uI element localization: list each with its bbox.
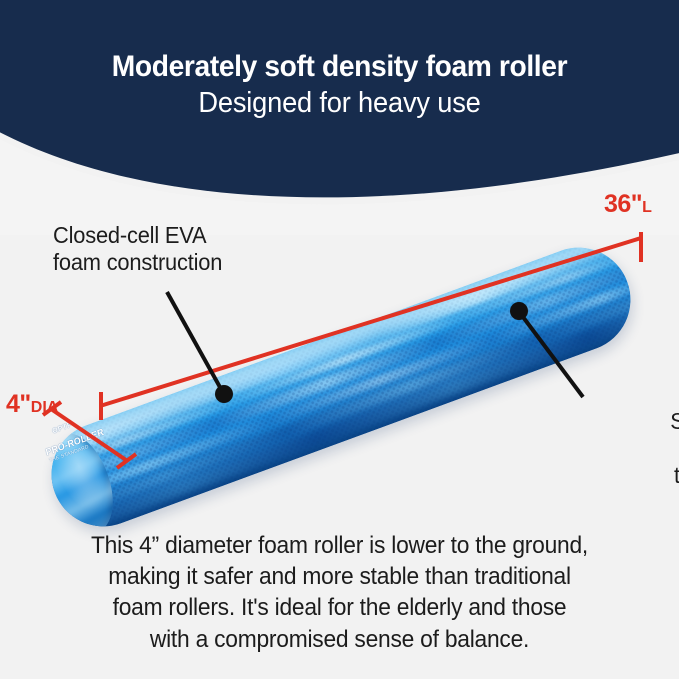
- description-line-2: making it safer and more stable than tra…: [17, 561, 662, 592]
- dimension-label-diameter: 4"DIA: [6, 390, 58, 419]
- diameter-unit: DIA: [31, 399, 59, 416]
- diameter-value: 4": [6, 390, 31, 418]
- dimension-label-length: 36"L: [604, 190, 652, 219]
- description-line-3: foam rollers. It's ideal for the elderly…: [17, 592, 662, 623]
- length-unit: L: [642, 199, 652, 216]
- callout-line-2: foam construction: [53, 249, 222, 275]
- infographic-canvas: Moderately soft density foam roller Desi…: [0, 0, 679, 679]
- description-line-4: with a compromised sense of balance.: [17, 624, 662, 655]
- callout-smooth-surface: Smooth, easy- to-clean surface: [670, 408, 679, 517]
- callout-line-1: Closed-cell EVA: [53, 222, 206, 248]
- callout-closed-cell-eva: Closed-cell EVA foam construction: [53, 222, 222, 276]
- description-line-1: This 4” diameter foam roller is lower to…: [17, 530, 662, 561]
- length-value: 36": [604, 190, 642, 218]
- leader-line-closed-cell-eva: [167, 292, 233, 403]
- leader-line-smooth-surface: [510, 302, 583, 397]
- callout-line-2: to-clean surface: [670, 462, 679, 516]
- description-paragraph: This 4” diameter foam roller is lower to…: [0, 530, 679, 655]
- callout-line-1: Smooth, easy-: [670, 408, 679, 462]
